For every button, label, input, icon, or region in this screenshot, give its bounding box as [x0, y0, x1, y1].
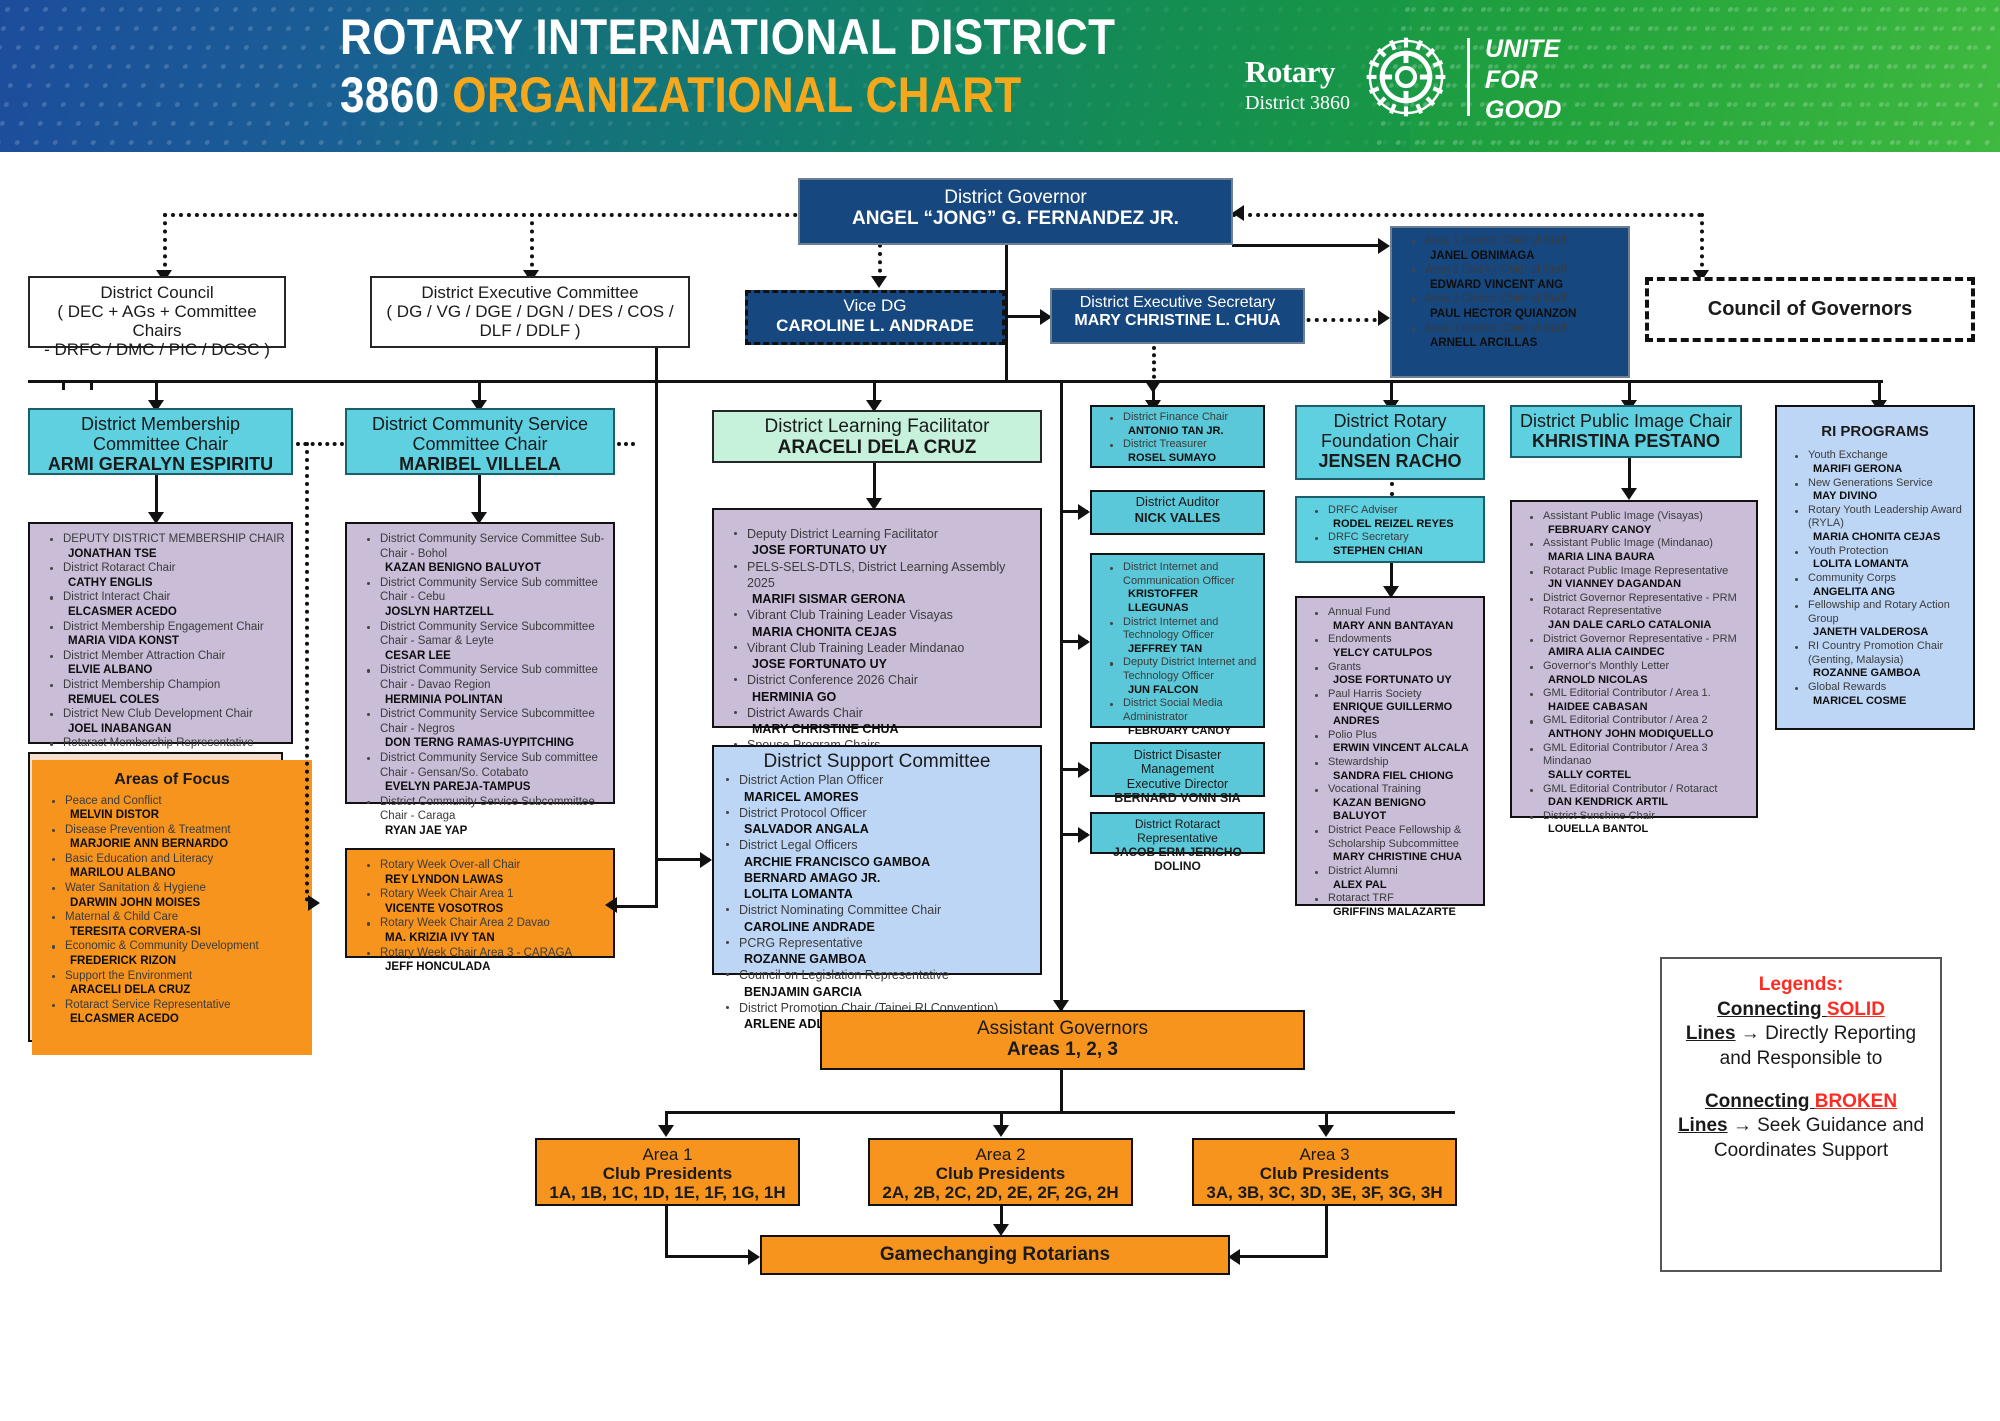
item-name: DON TERNG RAMAS-UYPITCHING: [380, 736, 609, 751]
area-3-box[interactable]: Area 3 Club Presidents 3A, 3B, 3C, 3D, 3…: [1192, 1138, 1457, 1206]
list-item: Council on Legislation RepresentativeBEN…: [726, 967, 1034, 1000]
list-item: GrantsJOSE FORTUNATO UY: [1315, 661, 1481, 688]
rotary-wheel-icon: [1365, 36, 1447, 118]
support-committee-box[interactable]: District Support Committee District Acti…: [712, 745, 1042, 975]
arrow-area-1: [658, 1125, 674, 1137]
list-item: Youth ProtectionLOLITA LOMANTA: [1795, 545, 1971, 572]
item-name: ROZANNE GAMBOA: [1808, 667, 1971, 681]
item-role: District Social Media Administrator: [1123, 697, 1223, 723]
connector-foundation-advisers: [1390, 482, 1394, 496]
disaster-management-box[interactable]: District Disaster Management Executive D…: [1090, 742, 1265, 797]
foundation-list-box[interactable]: Annual FundMARY ANN BANTAYANEndowmentsYE…: [1295, 596, 1485, 906]
list-item: District Internet and Communication Offi…: [1110, 561, 1261, 616]
list-item: District TreasurerROSEL SUMAYO: [1110, 438, 1261, 465]
ag-title: Assistant Governors: [828, 1018, 1297, 1039]
list-item: Governor's Monthly LetterARNOLD NICOLAS: [1530, 660, 1754, 687]
item-role: District Alumni: [1328, 865, 1398, 877]
foundation-advisers-box[interactable]: DRFC AdviserRODEL REIZEL REYESDRFC Secre…: [1295, 496, 1485, 563]
list-item: Water Sanitation & HygieneDARWIN JOHN MO…: [52, 881, 308, 910]
item-role: District Membership Engagement Chair: [63, 621, 264, 633]
item-name: RYAN JAE YAP: [380, 824, 609, 839]
item-name: REMUEL COLES: [63, 693, 287, 708]
list-item: StewardshipSANDRA FIEL CHIONG: [1315, 756, 1481, 783]
list-item: Fellowship and Rotary Action GroupJANETH…: [1795, 599, 1971, 640]
list-item: Community CorpsANGELITA ANG: [1795, 572, 1971, 599]
district-executive-committee-box[interactable]: District Executive Committee ( DG / VG /…: [370, 276, 690, 348]
item-name: PAUL HECTOR QUIANZON: [1425, 307, 1624, 322]
item-name: STEPHEN CHIAN: [1328, 545, 1481, 559]
dg-title: District Governor: [806, 187, 1225, 208]
item-name: ROZANNE GAMBOA: [739, 951, 1034, 967]
list-item: District Interact ChairELCASMER ACEDO: [50, 590, 287, 619]
rotaract-representative-box[interactable]: District Rotaract Representative JACOB E…: [1090, 812, 1265, 854]
community-service-items: District Community Service Committee Sub…: [351, 532, 609, 838]
list-item: District Governor Representative - PRM R…: [1530, 592, 1754, 633]
list-item: GML Editorial Contributor / Area 2ANTHON…: [1530, 714, 1754, 741]
list-item: Polio PlusERWIN VINCENT ALCALA: [1315, 729, 1481, 756]
area-2-clubs: 2A, 2B, 2C, 2D, 2E, 2F, 2G, 2H: [876, 1183, 1125, 1202]
item-name: MARIA CHONITA CEJAS: [1808, 531, 1971, 545]
item-name: MAY DIVINO: [1808, 490, 1971, 504]
connector-dg-spine-lower: [1005, 315, 1008, 380]
item-name: MARICEL COSME: [1808, 695, 1971, 709]
logo-divider: [1467, 38, 1470, 116]
item-role: District Governor Representative - PRM: [1543, 633, 1737, 645]
community-service-chair-box[interactable]: District Community Service Committee Cha…: [345, 408, 615, 475]
item-role: District Membership Champion: [63, 679, 220, 691]
list-item: Rotary Week Chair Area 2 DavaoMA. KRIZIA…: [367, 916, 609, 945]
legend-solid-prefix: Connecting: [1717, 999, 1827, 1020]
list-item: Youth ExchangeMARIFI GERONA: [1795, 449, 1971, 476]
item-name: LOLITA LOMANTA: [1808, 558, 1971, 572]
council-of-governors-box[interactable]: Council of Governors: [1645, 277, 1975, 342]
list-item: Area 2 District Chief of StaffEDWARD VIN…: [1412, 263, 1624, 292]
arrow-support-committee: [700, 852, 712, 868]
arrow-vice-dg: [871, 276, 887, 288]
item-role: Rotary Week Over-all Chair: [380, 859, 520, 871]
list-item: District Legal OfficersARCHIE FRANCISCO …: [726, 837, 1034, 902]
community-title-1: District Community Service: [353, 414, 607, 434]
list-item: Area 3 District Chief of StaffPAUL HECTO…: [1412, 292, 1624, 321]
item-name: MELVIN DISTOR: [65, 808, 308, 823]
item-role: District Internet and Communication Offi…: [1123, 561, 1235, 587]
item-name: ARNELL ARCILLAS: [1425, 336, 1624, 351]
district-executive-secretary-box[interactable]: District Executive Secretary MARY CHRIST…: [1050, 288, 1305, 344]
area-1-box[interactable]: Area 1 Club Presidents 1A, 1B, 1C, 1D, 1…: [535, 1138, 800, 1206]
arrow-rotary-week-link: [308, 895, 320, 911]
item-name: CESAR LEE: [380, 649, 609, 664]
legend-broken: Connecting BROKEN Lines → Seek Guidance …: [1670, 1090, 1932, 1164]
membership-title-1: District Membership: [36, 414, 285, 434]
item-name: JANETH VALDEROSA: [1808, 626, 1971, 640]
item-role: District Nominating Committee Chair: [739, 903, 941, 917]
list-item: Annual FundMARY ANN BANTAYAN: [1315, 606, 1481, 633]
item-role: Economic & Community Development: [65, 940, 259, 952]
internet-items: District Internet and Communication Offi…: [1094, 561, 1261, 738]
vice-dg-title: Vice DG: [754, 296, 996, 316]
item-name: MARILOU ALBANO: [65, 866, 308, 881]
connector-dg-to-left-bus: [163, 213, 798, 217]
item-role: DRFC Adviser: [1328, 504, 1398, 516]
item-role: GML Editorial Contributor / Rotaract: [1543, 783, 1717, 795]
list-item: Rotaract TRFGRIFFINS MALAZARTE: [1315, 892, 1481, 919]
list-item: Area 3 District Chief of StaffARNELL ARC…: [1412, 322, 1624, 351]
ag-subtitle: Areas 1, 2, 3: [828, 1039, 1297, 1061]
title-line-1: ROTARY INTERNATIONAL DISTRICT: [340, 8, 1132, 66]
item-role: District Community Service Subcommittee …: [380, 621, 595, 648]
list-item: PCRG RepresentativeROZANNE GAMBOA: [726, 935, 1034, 968]
item-name: MARIFI SISMAR GERONA: [747, 591, 1036, 607]
rotary-week-box[interactable]: Rotary Week Over-all ChairREY LYNDON LAW…: [345, 848, 615, 958]
list-item: District Protocol OfficerSALVADOR ANGALA: [726, 805, 1034, 838]
list-item: Vocational TrainingKAZAN BENIGNO BALUYOT: [1315, 783, 1481, 824]
list-item: Assistant Public Image (Visayas)FEBRUARY…: [1530, 510, 1754, 537]
areas-of-focus-items: Peace and ConflictMELVIN DISTORDisease P…: [36, 794, 308, 1028]
district-council-line-2: ( DEC + AGs + Committee Chairs: [36, 302, 278, 340]
auditor-box[interactable]: District Auditor NICK VALLES: [1090, 490, 1265, 535]
item-role: GML Editorial Contributor / Area 2: [1543, 714, 1708, 726]
item-role: Area 3 District Chief of Staff: [1425, 293, 1567, 305]
item-name: ENRIQUE GUILLERMO ANDRES: [1328, 701, 1481, 728]
list-item: District New Club Development ChairJOEL …: [50, 707, 287, 736]
item-name: ANTHONY JOHN MODIQUELLO: [1543, 728, 1754, 742]
item-role: Support the Environment: [65, 970, 192, 982]
internet-box[interactable]: District Internet and Communication Offi…: [1090, 553, 1265, 728]
list-item: Vibrant Club Training Leader MindanaoJOS…: [734, 640, 1036, 673]
connector-dg-to-right-bus: [1232, 213, 1702, 217]
list-item: District Rotaract ChairCATHY ENGLIS: [50, 561, 287, 590]
learning-facilitator-box[interactable]: District Learning Facilitator ARACELI DE…: [712, 410, 1042, 463]
item-name: MARIA LINA BAURA: [1543, 551, 1754, 565]
item-name: JN VIANNEY DAGANDAN: [1543, 578, 1754, 592]
legend-broken-word: BROKEN: [1815, 1091, 1897, 1112]
item-role: District Community Service Sub committee…: [380, 577, 598, 604]
item-name: FEBRUARY CANOY: [1543, 524, 1754, 538]
arrow-internet: [1078, 634, 1090, 650]
item-name: ARACELI DELA CRUZ: [65, 983, 308, 998]
auditor-title: District Auditor: [1098, 495, 1257, 510]
list-item: District Membership Engagement ChairMARI…: [50, 620, 287, 649]
connector-community-right: [617, 442, 635, 446]
community-chair-name: MARIBEL VILLELA: [353, 454, 607, 475]
item-role: DRFC Secretary: [1328, 531, 1409, 543]
item-role: District Awards Chair: [747, 706, 863, 720]
council-of-governors-label: Council of Governors: [1708, 298, 1912, 321]
foundation-chair-box[interactable]: District Rotary Foundation Chair JENSEN …: [1295, 405, 1485, 480]
page-header: ROTARY INTERNATIONAL DISTRICT 3860 ORGAN…: [0, 0, 2000, 152]
legend-heading: Legends:: [1670, 973, 1932, 998]
item-name: KAZAN BENIGNO BALUYOT: [1328, 797, 1481, 824]
list-item: District Member Attraction ChairELVIE AL…: [50, 649, 287, 678]
item-role: PELS-SELS-DTLS, District Learning Assemb…: [747, 560, 1005, 590]
list-item: RI Country Promotion Chair (Genting, Mal…: [1795, 640, 1971, 681]
list-item: New Generations ServiceMAY DIVINO: [1795, 477, 1971, 504]
finance-items: District Finance ChairANTONIO TAN JR.Dis…: [1094, 411, 1261, 466]
area-1-title: Area 1: [543, 1145, 792, 1164]
area1-down: [665, 1206, 668, 1258]
public-image-title: District Public Image Chair: [1518, 411, 1734, 431]
list-item: District Community Service Sub committee…: [367, 576, 609, 620]
ri-programs-title: RI PROGRAMS: [1779, 423, 1971, 441]
membership-title-2: Committee Chair: [36, 434, 285, 454]
item-name: ELCASMER ACEDO: [63, 605, 287, 620]
item-name: GRIFFINS MALAZARTE: [1328, 906, 1481, 920]
list-item: Rotaract Service RepresentativeELCASMER …: [52, 998, 308, 1027]
tagline-line-2: FOR: [1485, 65, 1561, 96]
list-item: District Internet and Technology Officer…: [1110, 616, 1261, 657]
list-item: DRFC AdviserRODEL REIZEL REYES: [1315, 504, 1481, 531]
list-item: Rotary Youth Leadership Award (RYLA)MARI…: [1795, 504, 1971, 545]
list-item: District Community Service Sub committee…: [367, 751, 609, 795]
item-name: ELCASMER ACEDO: [65, 1012, 308, 1027]
item-name: ANGELITA ANG: [1808, 586, 1971, 600]
list-item: Deputy District Learning FacilitatorJOSE…: [734, 526, 1036, 559]
list-item: Global RewardsMARICEL COSME: [1795, 681, 1971, 708]
item-name: KAZAN BENIGNO BALUYOT: [380, 561, 609, 576]
item-name: MARIFI GERONA: [1808, 463, 1971, 477]
assistant-governors-box[interactable]: Assistant Governors Areas 1, 2, 3: [820, 1010, 1305, 1070]
list-item: Basic Education and LiteracyMARILOU ALBA…: [52, 852, 308, 881]
area3-down: [1325, 1206, 1328, 1258]
connector-to-district-council: [163, 213, 167, 275]
district-council-box[interactable]: District Council ( DEC + AGs + Committee…: [28, 276, 286, 348]
item-role: Rotaract Public Image Representative: [1543, 565, 1728, 577]
item-name: VICENTE VOSOTROS: [380, 902, 609, 917]
item-role: District Interact Chair: [63, 591, 170, 603]
item-role: District Finance Chair: [1123, 411, 1228, 423]
item-role: Assistant Public Image (Mindanao): [1543, 537, 1713, 549]
dlf-list-box[interactable]: Deputy District Learning FacilitatorJOSE…: [712, 508, 1042, 728]
gamechanging-rotarians-box[interactable]: Gamechanging Rotarians: [760, 1235, 1230, 1275]
list-item: Rotary Week Chair Area 1VICENTE VOSOTROS: [367, 887, 609, 916]
item-name: JOSE FORTUNATO UY: [747, 656, 1036, 672]
list-item: Vibrant Club Training Leader VisayasMARI…: [734, 607, 1036, 640]
main-horizontal-bus: [28, 380, 1883, 383]
finance-box[interactable]: District Finance ChairANTONIO TAN JR.Dis…: [1090, 405, 1265, 468]
item-name: AMIRA ALIA CAINDEC: [1543, 646, 1754, 660]
area-1-subtitle: Club Presidents: [543, 1164, 792, 1183]
item-role: Peace and Conflict: [65, 795, 162, 807]
item-name: DAN KENDRICK ARTIL: [1543, 796, 1754, 810]
item-role: District New Club Development Chair: [63, 708, 253, 720]
connector-membership-community: [296, 442, 344, 446]
areas-of-focus-box[interactable]: Areas of Focus Peace and ConflictMELVIN …: [32, 760, 312, 1055]
item-name: ALEX PAL: [1328, 879, 1481, 893]
item-role: Rotary Week Chair Area 3 - CARAGA: [380, 947, 572, 959]
support-committee-title: District Support Committee: [720, 751, 1034, 772]
area-2-box[interactable]: Area 2 Club Presidents 2A, 2B, 2C, 2D, 2…: [868, 1138, 1133, 1206]
item-role: Area 2 District Chief of Staff: [1425, 264, 1567, 276]
item-name: ROSEL SUMAYO: [1123, 452, 1261, 466]
list-item: GML Editorial Contributor / Area 3 Minda…: [1530, 742, 1754, 783]
community-title-2: Committee Chair: [353, 434, 607, 454]
item-name: JEFFREY TAN: [1123, 643, 1261, 657]
item-role: Assistant Public Image (Visayas): [1543, 510, 1703, 522]
item-name: MARICEL AMORES: [739, 789, 1034, 805]
item-name: YELCY CATULPOS: [1328, 647, 1481, 661]
area-1-clubs: 1A, 1B, 1C, 1D, 1E, 1F, 1G, 1H: [543, 1183, 792, 1202]
item-name: JUN FALCON: [1123, 684, 1261, 698]
list-item: District Community Service Subcommittee …: [367, 620, 609, 664]
legend-solid: Connecting SOLID Lines → Directly Report…: [1670, 998, 1932, 1072]
item-role: District Member Attraction Chair: [63, 650, 225, 662]
legend-broken-lines: Lines: [1678, 1115, 1728, 1136]
list-item: District Social Media AdministratorFEBRU…: [1110, 697, 1261, 738]
arrow-area-2: [993, 1125, 1009, 1137]
item-name: HAIDEE CABASAN: [1543, 701, 1754, 715]
item-role: Vocational Training: [1328, 783, 1421, 795]
item-name: BENJAMIN GARCIA: [739, 984, 1034, 1000]
legend-box: Legends: Connecting SOLID Lines → Direct…: [1660, 957, 1942, 1272]
connector-membership-vert: [305, 442, 309, 902]
list-item: Disease Prevention & TreatmentMARJORIE A…: [52, 823, 308, 852]
public-image-chair-name: KHRISTINA PESTANO: [1518, 431, 1734, 452]
foundation-adviser-items: DRFC AdviserRODEL REIZEL REYESDRFC Secre…: [1299, 504, 1481, 559]
membership-list-box[interactable]: DEPUTY DISTRICT MEMBERSHIP CHAIRJONATHAN…: [28, 522, 293, 744]
foundation-title-1: District Rotary: [1303, 411, 1477, 431]
membership-chair-box[interactable]: District Membership Committee Chair ARMI…: [28, 408, 293, 475]
item-role: Paul Harris Society: [1328, 688, 1422, 700]
legend-spacer: [1670, 1072, 1932, 1090]
public-image-list-box[interactable]: Assistant Public Image (Visayas)FEBRUARY…: [1510, 500, 1758, 818]
page-title: ROTARY INTERNATIONAL DISTRICT 3860 ORGAN…: [340, 8, 1240, 124]
list-item: EndowmentsYELCY CATULPOS: [1315, 633, 1481, 660]
community-service-list-box[interactable]: District Community Service Committee Sub…: [345, 522, 615, 804]
area-3-clubs: 3A, 3B, 3C, 3D, 3E, 3F, 3G, 3H: [1200, 1183, 1449, 1202]
item-role: Disease Prevention & Treatment: [65, 824, 231, 836]
public-image-chair-box[interactable]: District Public Image Chair KHRISTINA PE…: [1510, 405, 1742, 458]
item-role: Annual Fund: [1328, 606, 1390, 618]
item-role: Rotaract Service Representative: [65, 999, 231, 1011]
item-name: JOEL INABANGAN: [63, 722, 287, 737]
district-council-line-1: District Council: [36, 283, 278, 302]
vice-dg-name: CAROLINE L. ANDRADE: [754, 316, 996, 336]
item-role: District Action Plan Officer: [739, 773, 883, 787]
item-role: Vibrant Club Training Leader Visayas: [747, 608, 953, 622]
item-role: District Community Service Committee Sub…: [380, 533, 604, 560]
list-item: District Community Service Sub committee…: [367, 663, 609, 707]
dec-line-3: DLF / DDLF ): [378, 321, 682, 340]
item-role: Rotary Week Chair Area 2 Davao: [380, 917, 550, 929]
exec-sec-title: District Executive Secretary: [1058, 294, 1297, 312]
dlf-items: Deputy District Learning FacilitatorJOSE…: [718, 526, 1036, 770]
item-name: KRISTOFFER LLEGUNAS: [1123, 588, 1261, 615]
exec-sec-name: MARY CHRISTINE L. CHUA: [1058, 312, 1297, 331]
rotaract-rep-title: District Rotaract Representative: [1098, 818, 1257, 846]
gamechanging-label: Gamechanging Rotarians: [880, 1244, 1110, 1266]
list-item: DEPUTY DISTRICT MEMBERSHIP CHAIRJONATHAN…: [50, 532, 287, 561]
ri-programs-box[interactable]: RI PROGRAMS Youth ExchangeMARIFI GERONAN…: [1775, 405, 1975, 730]
area3-to-gc: [1240, 1255, 1328, 1258]
item-name: JANEL OBNIMAGA: [1425, 249, 1624, 264]
chiefs-of-staff-box[interactable]: Area 1 District Chief of StaffJANEL OBNI…: [1390, 226, 1630, 378]
list-item: Rotary Week Chair Area 3 - CARAGAJEFF HO…: [367, 946, 609, 975]
connector-dg-to-exec-sec: [1005, 315, 1045, 318]
list-item: District Community Service Subcommittee …: [367, 795, 609, 839]
item-role: Water Sanitation & Hygiene: [65, 882, 206, 894]
list-item: GML Editorial Contributor / Area 1.HAIDE…: [1530, 687, 1754, 714]
item-role: Rotary Youth Leadership Award (RYLA): [1808, 504, 1962, 530]
arrow-chiefs-of-staff: [1378, 238, 1390, 254]
item-name: SALLY CORTEL: [1543, 769, 1754, 783]
item-role: PCRG Representative: [739, 936, 863, 950]
vice-dg-box[interactable]: Vice DG CAROLINE L. ANDRADE: [745, 290, 1005, 345]
list-item: District AlumniALEX PAL: [1315, 865, 1481, 892]
arrow-execsec-chiefs: [1378, 310, 1390, 326]
item-role: RI Country Promotion Chair (Genting, Mal…: [1808, 640, 1943, 666]
foundation-chair-name: JENSEN RACHO: [1303, 451, 1477, 472]
list-item: Economic & Community DevelopmentFREDERIC…: [52, 939, 308, 968]
connector-to-ag: [1060, 835, 1063, 1010]
item-role: Governor's Monthly Letter: [1543, 660, 1669, 672]
connector-dec-to-rotaryweek: [617, 905, 657, 908]
item-role: Grants: [1328, 661, 1361, 673]
dlf-title: District Learning Facilitator: [720, 416, 1034, 437]
dlf-name: ARACELI DELA CRUZ: [720, 437, 1034, 459]
item-name: REY LYNDON LAWAS: [380, 873, 609, 888]
item-role: Fellowship and Rotary Action Group: [1808, 599, 1950, 625]
item-name: SANDRA FIEL CHIONG: [1328, 770, 1481, 784]
item-name: SALVADOR ANGALA: [739, 821, 1034, 837]
list-item: District Finance ChairANTONIO TAN JR.: [1110, 411, 1261, 438]
item-name: EVELYN PAREJA-TAMPUS: [380, 780, 609, 795]
ag-spine: [1060, 1070, 1063, 1114]
item-role: Basic Education and Literacy: [65, 853, 213, 865]
item-role: Rotaract Membership Representative: [63, 737, 253, 749]
area1-to-gc: [665, 1255, 755, 1258]
item-name: ERWIN VINCENT ALCALA: [1328, 742, 1481, 756]
item-role: Area 3 District Chief of Staff: [1425, 323, 1567, 335]
district-council-line-3: - DRFC / DMC / PIC / DCSC ): [36, 340, 278, 359]
item-name: JONATHAN TSE: [63, 547, 287, 562]
list-item: Area 1 District Chief of StaffJANEL OBNI…: [1412, 234, 1624, 263]
item-role: Vibrant Club Training Leader Mindanao: [747, 641, 964, 655]
item-role: Global Rewards: [1808, 681, 1886, 693]
item-role: Community Corps: [1808, 572, 1896, 584]
item-role: District Governor Representative - PRM R…: [1543, 592, 1737, 618]
list-item: PELS-SELS-DTLS, District Learning Assemb…: [734, 559, 1036, 608]
item-role: District Legal Officers: [739, 838, 858, 852]
arrow-auditor: [1078, 504, 1090, 520]
arrow-public-image-list: [1621, 488, 1637, 500]
item-role: Area 1 District Chief of Staff: [1425, 235, 1567, 247]
title-accent: ORGANIZATIONAL CHART: [452, 67, 1021, 123]
item-name: ELVIE ALBANO: [63, 663, 287, 678]
rotaract-rep-name: JACOB ERM JERICHO DOLINO: [1098, 846, 1257, 874]
item-role: District Rotaract Chair: [63, 562, 175, 574]
item-role: District Protocol Officer: [739, 806, 867, 820]
item-name: RODEL REIZEL REYES: [1328, 518, 1481, 532]
item-name: ARCHIE FRANCISCO GAMBOABERNARD AMAGO JR.…: [739, 854, 1034, 903]
legend-solid-rest: → Directly Reporting and Responsible to: [1720, 1023, 1916, 1069]
arrow-rotaract-rep: [1078, 827, 1090, 843]
connector-dg-to-chiefs: [1232, 244, 1382, 247]
district-governor-box[interactable]: District Governor ANGEL “JONG” G. FERNAN…: [798, 178, 1233, 245]
ag-horizontal-bus: [665, 1111, 1455, 1114]
item-name: EDWARD VINCENT ANG: [1425, 278, 1624, 293]
item-name: JOSE FORTUNATO UY: [747, 542, 1036, 558]
item-role: District Community Service Sub committee…: [380, 664, 598, 691]
item-name: MA. KRIZIA IVY TAN: [380, 931, 609, 946]
item-role: GML Editorial Contributor / Area 3 Minda…: [1543, 742, 1708, 768]
connector-to-council-of-governors: [1700, 213, 1704, 275]
list-item: District Conference 2026 ChairHERMINIA G…: [734, 672, 1036, 705]
item-role: District Sunshine Chair: [1543, 810, 1655, 822]
item-role: Deputy District Internet and Technology …: [1123, 656, 1256, 682]
item-role: Rotaract TRF: [1328, 892, 1394, 904]
item-name: HERMINIA GO: [747, 689, 1036, 705]
ri-programs-items: Youth ExchangeMARIFI GERONANew Generatio…: [1779, 449, 1971, 708]
